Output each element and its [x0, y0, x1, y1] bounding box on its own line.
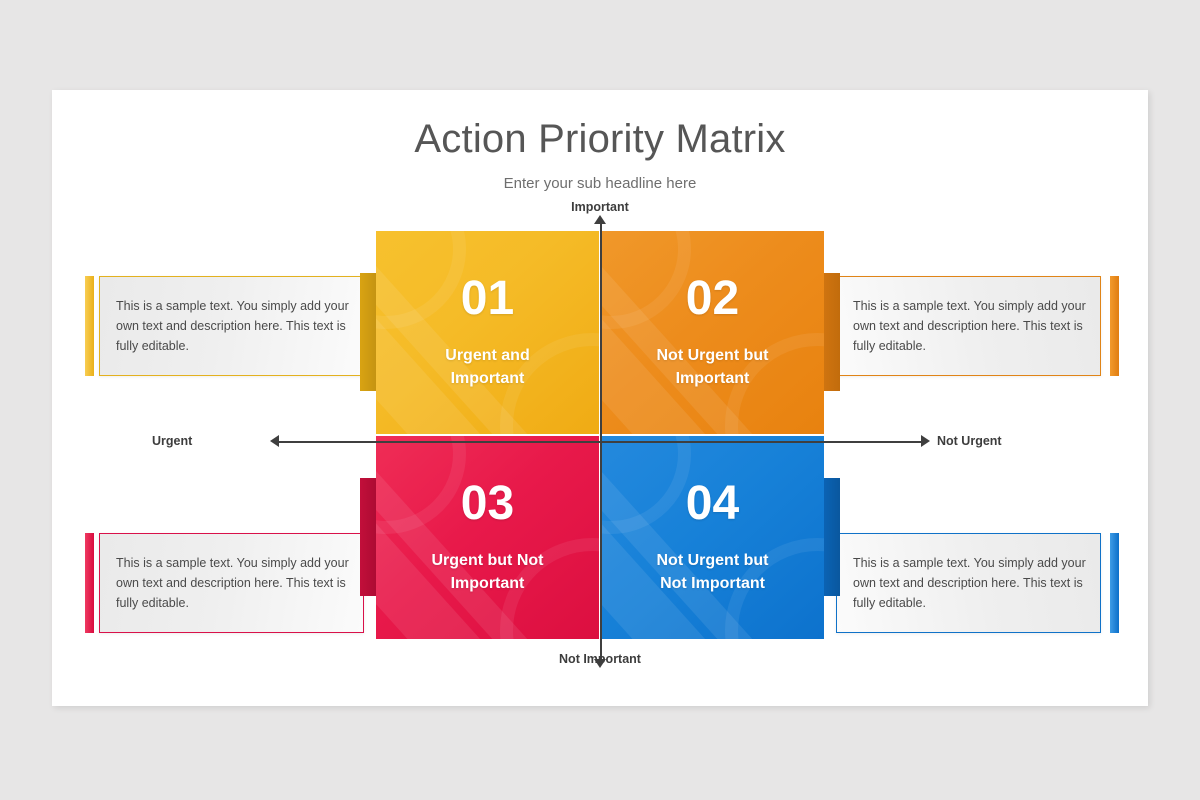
ribbon-fold-quadrant-02 — [824, 273, 840, 391]
arrow-right-icon — [921, 435, 930, 447]
decorative-band-icon — [601, 231, 719, 434]
slide-canvas: Action Priority Matrix Enter your sub he… — [52, 90, 1148, 706]
arrow-left-icon — [270, 435, 279, 447]
axis-label-important: Important — [52, 200, 1148, 214]
ribbon-fold-quadrant-01 — [360, 273, 376, 391]
axis-label-not-urgent: Not Urgent — [937, 434, 1002, 448]
description-box-quadrant-03[interactable]: This is a sample text. You simply add yo… — [99, 533, 364, 633]
action-priority-matrix: This is a sample text. You simply add yo… — [52, 90, 1148, 706]
ribbon-fold-quadrant-04 — [824, 478, 840, 596]
decorative-band-icon — [376, 231, 549, 434]
quadrant-label-line1: Not Urgent but — [609, 344, 816, 367]
quadrant-label: Not Urgent but Not Important — [609, 549, 816, 595]
quadrant-label-line2: Important — [609, 367, 816, 390]
decorative-band-icon — [376, 231, 494, 434]
accent-bar-quadrant-01 — [85, 276, 94, 376]
quadrant-label-line1: Urgent but Not — [384, 549, 591, 572]
quadrant-number: 02 — [601, 275, 824, 323]
quadrant-number: 01 — [376, 275, 599, 323]
quadrant-number: 03 — [376, 480, 599, 528]
decorative-band-icon — [601, 436, 774, 639]
description-box-quadrant-01[interactable]: This is a sample text. You simply add yo… — [99, 276, 364, 376]
axis-label-not-important: Not Important — [52, 652, 1148, 666]
decorative-band-icon — [601, 231, 774, 434]
axis-label-urgent: Urgent — [152, 434, 192, 448]
description-box-quadrant-02[interactable]: This is a sample text. You simply add yo… — [836, 276, 1101, 376]
description-text: This is a sample text. You simply add yo… — [837, 296, 1100, 357]
quadrant-label-line1: Urgent and — [384, 344, 591, 367]
horizontal-axis-line — [278, 441, 923, 443]
quadrant-label: Not Urgent but Important — [609, 344, 816, 390]
quadrant-04-not-urgent-but-not-important[interactable]: 04 Not Urgent but Not Important — [601, 436, 824, 639]
quadrant-label-line1: Not Urgent but — [609, 549, 816, 572]
decorative-band-icon — [601, 436, 719, 639]
ribbon-fold-quadrant-03 — [360, 478, 376, 596]
description-box-quadrant-04[interactable]: This is a sample text. You simply add yo… — [836, 533, 1101, 633]
accent-bar-quadrant-04 — [1110, 533, 1119, 633]
decorative-band-icon — [376, 436, 494, 639]
description-text: This is a sample text. You simply add yo… — [100, 296, 363, 357]
accent-bar-quadrant-02 — [1110, 276, 1119, 376]
quadrant-03-urgent-but-not-important[interactable]: 03 Urgent but Not Important — [376, 436, 599, 639]
accent-bar-quadrant-03 — [85, 533, 94, 633]
arrow-up-icon — [594, 215, 606, 224]
quadrant-label: Urgent but Not Important — [384, 549, 591, 595]
description-text: This is a sample text. You simply add yo… — [837, 553, 1100, 614]
quadrant-label: Urgent and Important — [384, 344, 591, 390]
quadrant-label-line2: Not Important — [609, 572, 816, 595]
quadrant-label-line2: Important — [384, 367, 591, 390]
quadrant-label-line2: Important — [384, 572, 591, 595]
quadrant-01-urgent-and-important[interactable]: 01 Urgent and Important — [376, 231, 599, 434]
description-text: This is a sample text. You simply add yo… — [100, 553, 363, 614]
quadrant-02-not-urgent-but-important[interactable]: 02 Not Urgent but Important — [601, 231, 824, 434]
decorative-band-icon — [376, 436, 549, 639]
quadrant-number: 04 — [601, 480, 824, 528]
